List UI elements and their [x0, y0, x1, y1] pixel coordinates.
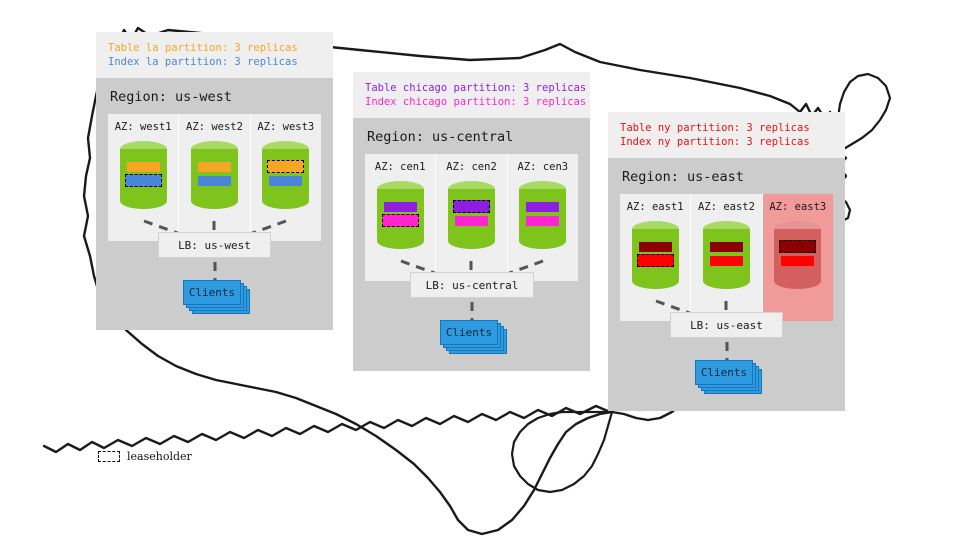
region-title: Region: us-west: [96, 78, 333, 114]
cylinder-base: [120, 193, 167, 209]
node-cylinder-west2[interactable]: [191, 141, 238, 209]
index-replica-leaseholder-layer: [382, 214, 419, 227]
index-replica-leaseholder-layer: [637, 254, 674, 267]
node-cylinder-east1[interactable]: [632, 221, 679, 289]
index-replica-layer: [526, 216, 559, 226]
table-replica-layer: [198, 162, 231, 172]
az-label: AZ: cen2: [446, 161, 497, 173]
az-label: AZ: east3: [769, 201, 826, 213]
legend-label: leaseholder: [127, 450, 192, 463]
az-label: AZ: east2: [698, 201, 755, 213]
region-panel-us-west: Table la partition: 3 replicas Index la …: [96, 32, 333, 330]
cylinder-base: [448, 233, 495, 249]
index-partition-line: Index la partition: 3 replicas: [108, 55, 321, 69]
index-replica-layer: [455, 216, 488, 226]
region-header-us-west: Table la partition: 3 replicas Index la …: [96, 32, 333, 78]
node-cylinder-cen3[interactable]: [519, 181, 566, 249]
table-replica-layer: [639, 242, 672, 252]
node-cylinder-cen2[interactable]: [448, 181, 495, 249]
node-cylinder-east3[interactable]: [774, 221, 821, 289]
load-balancer-us-east[interactable]: LB: us-east: [670, 312, 783, 338]
az-cell-cen3[interactable]: AZ: cen3: [508, 154, 578, 281]
region-header-us-central: Table chicago partition: 3 replicas Inde…: [353, 72, 590, 118]
load-balancer-us-central[interactable]: LB: us-central: [410, 272, 534, 298]
az-row: AZ: west1 AZ: west2: [108, 114, 321, 241]
table-replica-leaseholder-layer: [453, 200, 490, 213]
table-replica-leaseholder-layer: [779, 240, 816, 253]
region-panel-us-central: Table chicago partition: 3 replicas Inde…: [353, 72, 590, 371]
region-title: Region: us-central: [353, 118, 590, 154]
az-label: AZ: west2: [186, 121, 243, 133]
table-partition-line: Table ny partition: 3 replicas: [620, 121, 833, 135]
az-cell-cen1[interactable]: AZ: cen1: [365, 154, 436, 281]
cylinder-base: [703, 273, 750, 289]
index-replica-leaseholder-layer: [125, 174, 162, 187]
diagram-canvas: Table la partition: 3 replicas Index la …: [0, 0, 960, 540]
node-cylinder-west3[interactable]: [262, 141, 309, 209]
index-replica-layer: [269, 176, 302, 186]
table-partition-line: Table la partition: 3 replicas: [108, 41, 321, 55]
table-replica-layer: [127, 162, 160, 172]
index-partition-line: Index chicago partition: 3 replicas: [365, 95, 578, 109]
az-row: AZ: cen1 AZ: cen2: [365, 154, 578, 281]
dashed-rect-icon: [98, 451, 120, 462]
cylinder-base: [774, 273, 821, 289]
table-replica-leaseholder-layer: [267, 160, 304, 173]
az-label: AZ: west3: [257, 121, 314, 133]
index-replica-layer: [781, 256, 814, 266]
az-label: AZ: cen1: [375, 161, 426, 173]
index-replica-layer: [198, 176, 231, 186]
table-partition-line: Table chicago partition: 3 replicas: [365, 81, 578, 95]
cylinder-base: [191, 193, 238, 209]
az-cell-west1[interactable]: AZ: west1: [108, 114, 179, 241]
clients-label[interactable]: Clients: [695, 360, 753, 385]
az-cell-cen2[interactable]: AZ: cen2: [436, 154, 507, 281]
az-cell-east2[interactable]: AZ: east2: [691, 194, 762, 321]
region-title: Region: us-east: [608, 158, 845, 194]
clients-us-west[interactable]: Clients: [183, 280, 241, 305]
cylinder-base: [519, 233, 566, 249]
node-cylinder-west1[interactable]: [120, 141, 167, 209]
az-row: AZ: east1 AZ: east2: [620, 194, 833, 321]
legend-leaseholder: leaseholder: [98, 450, 192, 463]
region-panel-us-east: Table ny partition: 3 replicas Index ny …: [608, 112, 845, 411]
cylinder-base: [632, 273, 679, 289]
az-label: AZ: cen3: [518, 161, 569, 173]
cylinder-base: [377, 233, 424, 249]
az-label: AZ: west1: [115, 121, 172, 133]
load-balancer-us-west[interactable]: LB: us-west: [158, 232, 271, 258]
az-label: AZ: east1: [627, 201, 684, 213]
az-cell-east3[interactable]: AZ: east3: [763, 194, 833, 321]
node-cylinder-east2[interactable]: [703, 221, 750, 289]
table-replica-layer: [710, 242, 743, 252]
index-partition-line: Index ny partition: 3 replicas: [620, 135, 833, 149]
az-cell-east1[interactable]: AZ: east1: [620, 194, 691, 321]
cylinder-base: [262, 193, 309, 209]
region-header-us-east: Table ny partition: 3 replicas Index ny …: [608, 112, 845, 158]
az-cell-west3[interactable]: AZ: west3: [251, 114, 321, 241]
clients-label[interactable]: Clients: [440, 320, 498, 345]
index-replica-layer: [710, 256, 743, 266]
clients-us-central[interactable]: Clients: [440, 320, 498, 345]
node-cylinder-cen1[interactable]: [377, 181, 424, 249]
table-replica-layer: [526, 202, 559, 212]
table-replica-layer: [384, 202, 417, 212]
clients-label[interactable]: Clients: [183, 280, 241, 305]
az-cell-west2[interactable]: AZ: west2: [179, 114, 250, 241]
clients-us-east[interactable]: Clients: [695, 360, 753, 385]
